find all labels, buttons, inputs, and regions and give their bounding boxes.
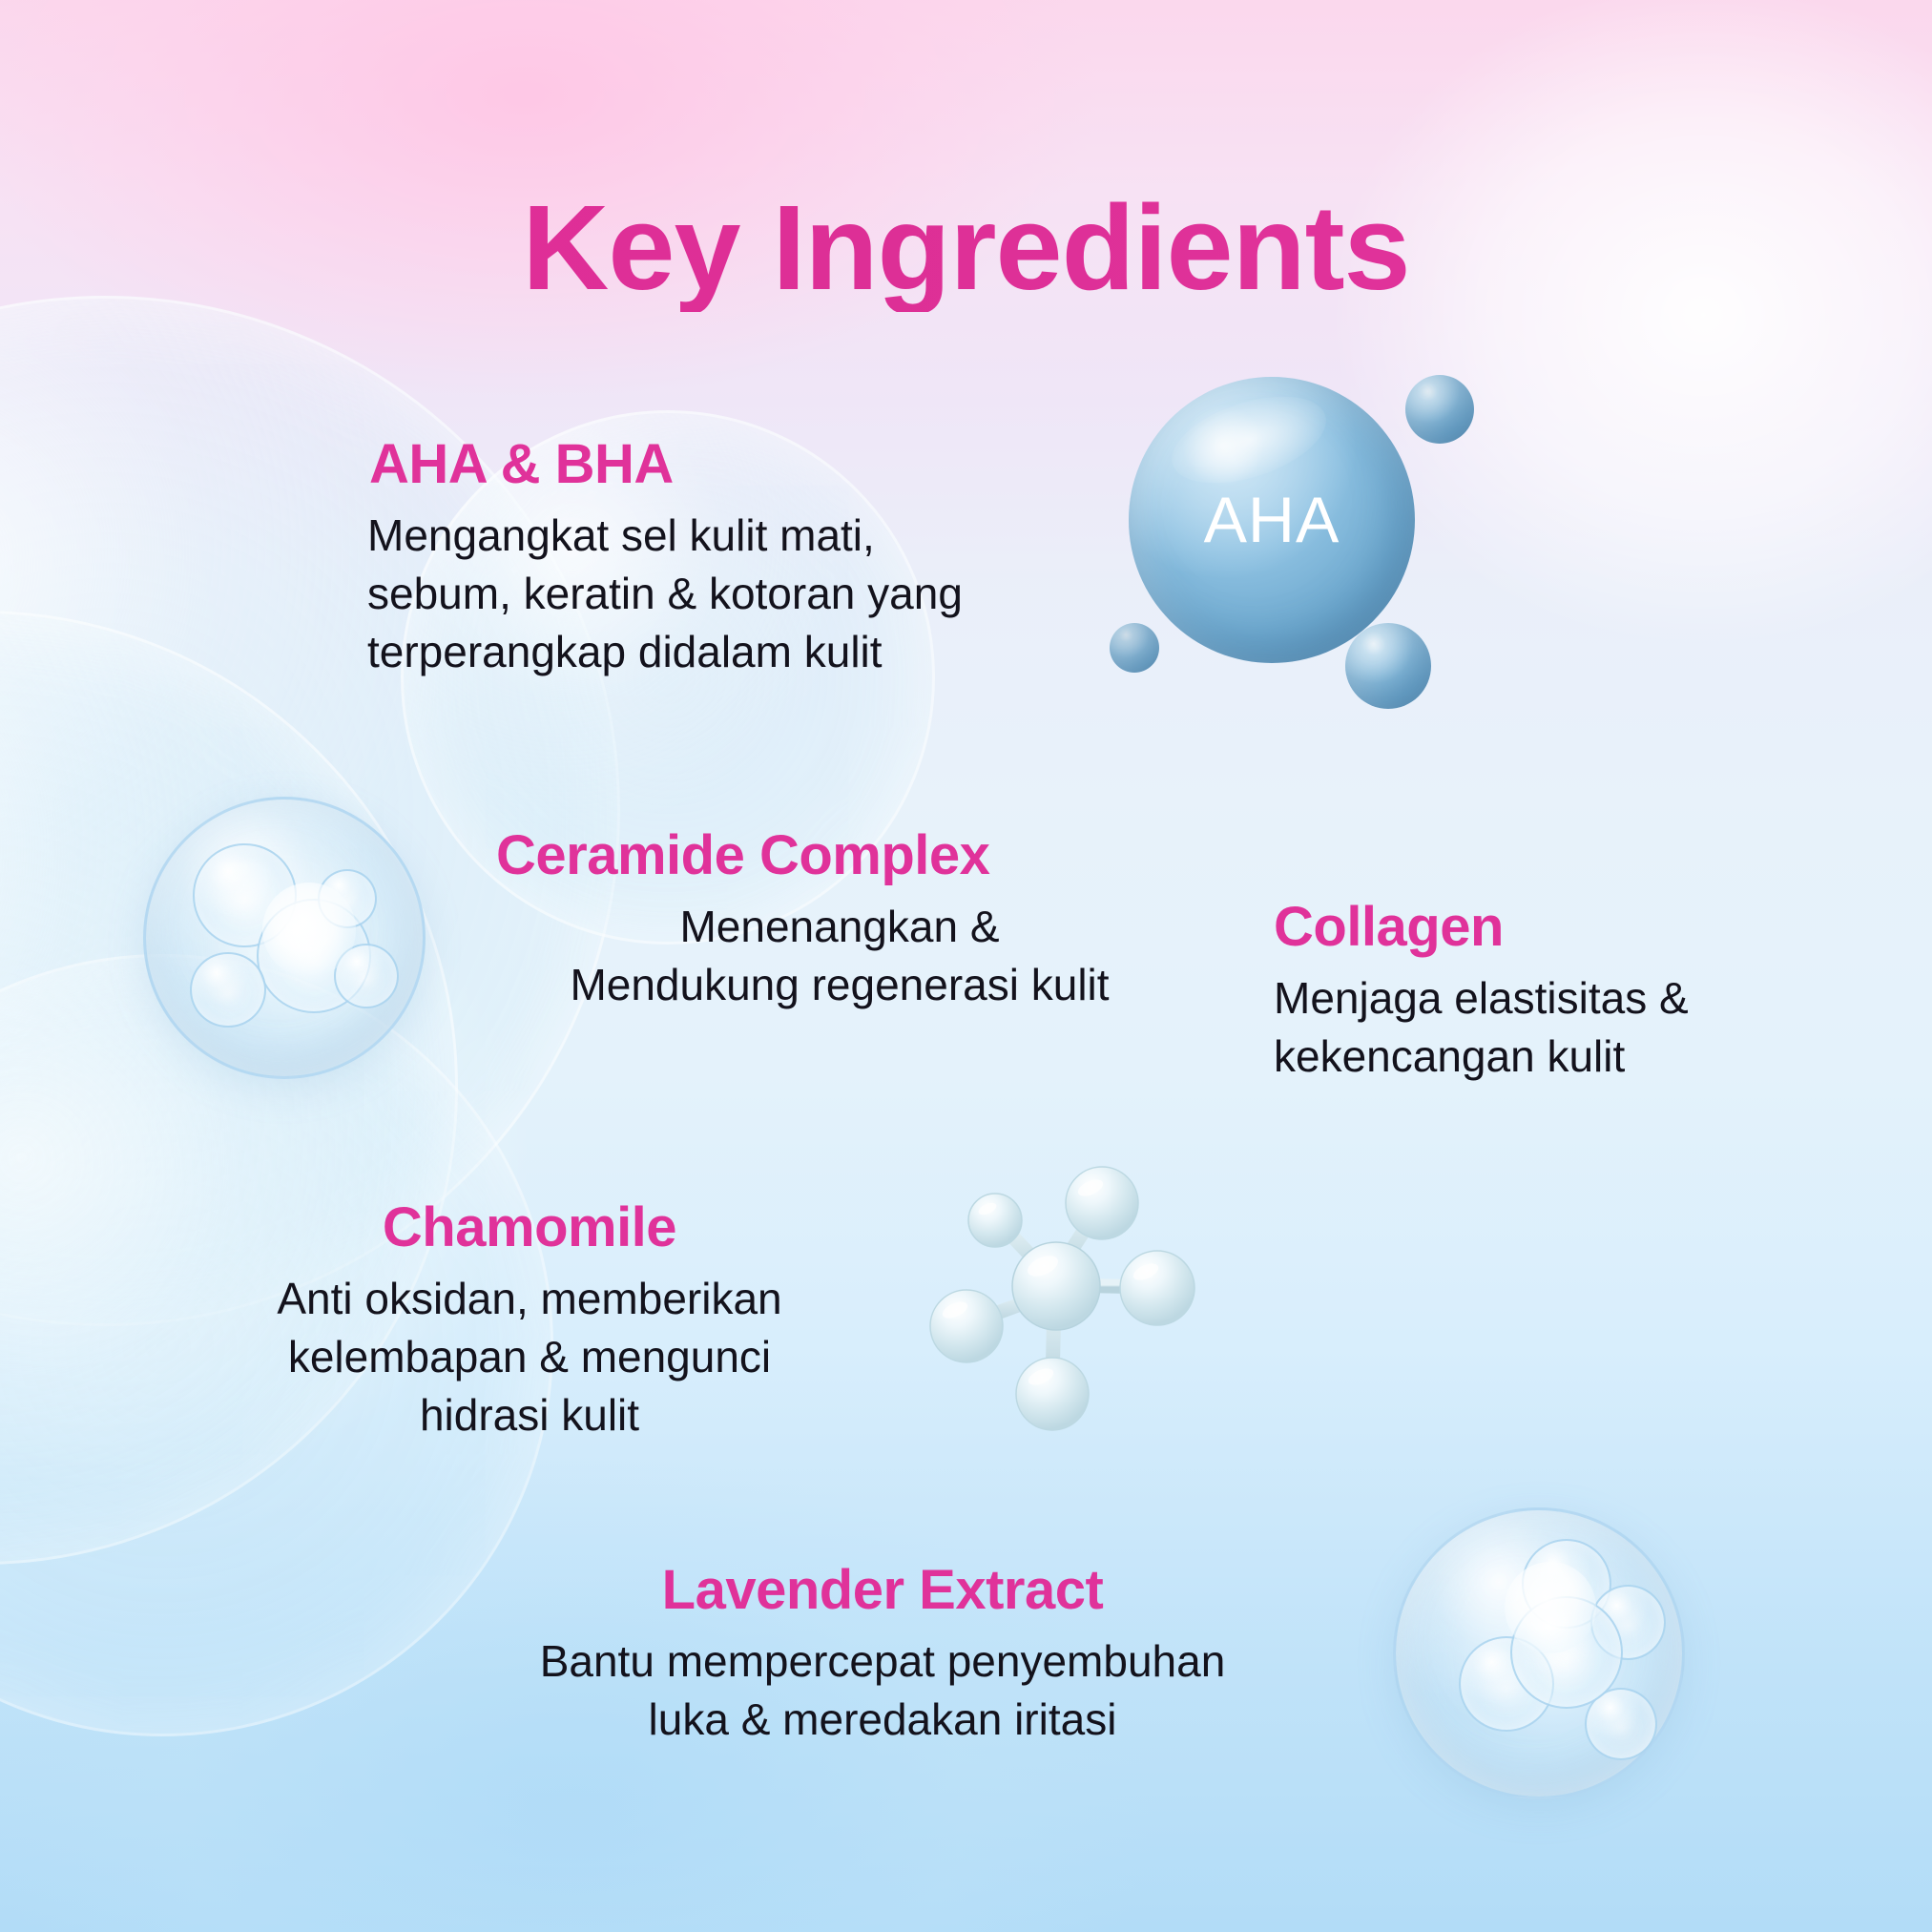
ingredient-line: sebum, keratin & kotoran yang xyxy=(367,569,963,618)
droplet-highlight xyxy=(262,883,357,977)
ingredient-heading-aha-bha: AHA & BHA xyxy=(369,434,1092,495)
aha-sphere-graphic: AHA xyxy=(1102,367,1493,749)
ingredient-line: Mendukung regenerasi kulit xyxy=(570,960,1109,1009)
ingredient-block-chamomile: Chamomile Anti oksidan, memberikan kelem… xyxy=(224,1197,835,1444)
ingredient-block-ceramide-complex: Ceramide Complex Menenangkan & Mendukung… xyxy=(496,825,1183,1014)
key-ingredients-poster: Key Ingredients AHA & BHA Mengangkat sel… xyxy=(0,0,1932,1932)
droplet-highlight xyxy=(1505,1562,1596,1653)
aha-satellite-sphere-icon xyxy=(1345,623,1431,709)
ingredient-heading-chamomile: Chamomile xyxy=(224,1197,835,1258)
ingredient-line: Menenangkan & xyxy=(679,902,999,951)
ingredient-line: luka & meredakan iritasi xyxy=(649,1694,1117,1744)
aha-satellite-sphere-icon xyxy=(1405,375,1474,444)
ingredient-line: kekencangan kulit xyxy=(1274,1031,1625,1081)
ingredient-line: Bantu mempercepat penyembuhan xyxy=(540,1636,1226,1686)
droplet-inner-bubble xyxy=(190,952,265,1028)
ingredient-line: Mengangkat sel kulit mati, xyxy=(367,510,875,560)
ingredient-heading-lavender-extract: Lavender Extract xyxy=(467,1560,1298,1621)
molecule-icon xyxy=(911,1159,1207,1455)
page-title: Key Ingredients xyxy=(0,185,1932,311)
ingredient-line: kelembapan & mengunci xyxy=(288,1332,771,1381)
aha-satellite-sphere-icon xyxy=(1110,623,1159,673)
ingredient-description-ceramide-complex: Menenangkan & Mendukung regenerasi kulit xyxy=(496,898,1183,1014)
ingredient-description-aha-bha: Mengangkat sel kulit mati, sebum, kerati… xyxy=(367,507,1092,682)
ingredient-description-chamomile: Anti oksidan, memberikan kelembapan & me… xyxy=(224,1270,835,1445)
ingredient-block-collagen: Collagen Menjaga elastisitas & kekencang… xyxy=(1274,897,1808,1086)
ingredient-block-aha-bha: AHA & BHA Mengangkat sel kulit mati, seb… xyxy=(367,434,1092,681)
aha-sphere-label: AHA xyxy=(1129,377,1415,663)
ingredient-line: hidrasi kulit xyxy=(420,1390,639,1440)
ingredient-block-lavender-extract: Lavender Extract Bantu mempercepat penye… xyxy=(467,1560,1298,1749)
ingredient-description-lavender-extract: Bantu mempercepat penyembuhan luka & mer… xyxy=(467,1632,1298,1749)
ingredient-heading-ceramide-complex: Ceramide Complex xyxy=(496,825,1183,886)
ingredient-line: Menjaga elastisitas & xyxy=(1274,973,1689,1023)
ceramide-droplet-icon xyxy=(143,797,426,1079)
lavender-droplet-icon xyxy=(1393,1507,1685,1799)
ingredient-description-collagen: Menjaga elastisitas & kekencangan kulit xyxy=(1274,969,1808,1086)
ingredient-heading-collagen: Collagen xyxy=(1274,897,1808,958)
ingredient-line: Anti oksidan, memberikan xyxy=(277,1274,781,1323)
ingredient-line: terperangkap didalam kulit xyxy=(367,627,883,676)
